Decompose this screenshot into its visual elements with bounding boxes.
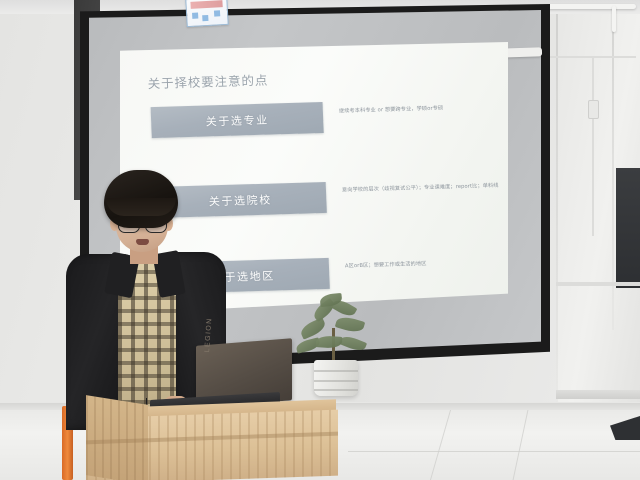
ceiling-pipe xyxy=(540,4,636,9)
baseboard-right xyxy=(556,390,640,399)
slide-title: 关于择校要注意的点 xyxy=(147,70,268,93)
poster-square-icon xyxy=(202,15,208,21)
pot-ring xyxy=(314,380,358,382)
photo-scene: 关于择校要注意的点 关于选专业 继续考本科专业 or 想要跨专业，学硕or专硕 … xyxy=(0,0,640,480)
wall-trim xyxy=(556,282,640,286)
hair-fringe xyxy=(106,198,176,216)
mouth xyxy=(136,239,149,245)
slide-bar-major: 关于选专业 xyxy=(151,102,324,138)
wall-seam-secondary xyxy=(612,0,614,330)
plant-leaf xyxy=(316,335,343,349)
wall-seam xyxy=(556,0,558,430)
wall-conduit-vertical xyxy=(592,56,594,236)
wall-dark-panel xyxy=(616,168,640,288)
wall-conduit-horizontal xyxy=(540,56,636,58)
plant-leaf xyxy=(339,334,367,354)
slide-note: 意向学校的层次（歧视复试公平）；专业课难度；report比；单科线 xyxy=(342,181,508,195)
poster-square-icon xyxy=(192,13,198,19)
slide-row: 关于选专业 继续考本科专业 or 想要跨专业，学硕or专硕 xyxy=(123,96,508,141)
floor-tile-seam xyxy=(348,451,640,452)
slide-note: A区orB区；想要工作或生活的地区 xyxy=(345,257,508,271)
plant-leaf xyxy=(335,314,365,334)
plant-pot xyxy=(314,360,358,396)
conduit-junction-box xyxy=(588,100,599,119)
poster-header-band xyxy=(190,0,222,9)
poster-square-icon xyxy=(214,10,220,16)
slide-bar-label: 关于选专业 xyxy=(205,111,269,129)
pot-ring xyxy=(314,389,358,391)
ceiling-pipe-drop-right xyxy=(612,6,616,32)
slide-note: 继续考本科专业 or 想要跨专业，学硕or专硕 xyxy=(339,103,507,117)
wall-poster xyxy=(185,0,228,27)
potted-plant xyxy=(292,292,376,400)
pot-ring xyxy=(314,370,358,372)
